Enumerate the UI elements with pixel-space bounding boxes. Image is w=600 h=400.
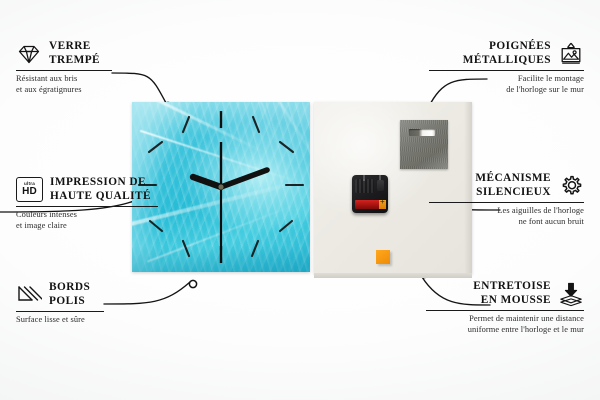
feature-foam-spacer: ENTRETOISE EN MOUSSE Permet de maintenir… — [388, 280, 584, 335]
feature-print-quality: ultra HD IMPRESSION DE HAUTE QUALITÉ Cou… — [16, 176, 212, 231]
foam-spacer-part — [376, 250, 390, 264]
feature-desc-line2: et image claire — [16, 221, 212, 232]
feature-title-line2: HAUTE QUALITÉ — [50, 190, 151, 204]
feature-title-line1: MÉCANISME — [475, 172, 551, 186]
aa-battery-part — [355, 200, 385, 209]
feature-desc-line2: uniforme entre l'horloge et le mur — [388, 325, 584, 336]
feature-title-line1: VERRE — [49, 40, 100, 54]
feature-polished-edges: BORDS POLIS Surface lisse et sûre — [16, 281, 212, 326]
feature-title-line1: BORDS — [49, 281, 90, 295]
ultra-hd-icon-big-label: HD — [22, 187, 37, 197]
feature-title-line2: POLIS — [49, 295, 90, 309]
feature-desc-line2: et aux égratignures — [16, 85, 212, 96]
hanging-frame-icon — [558, 41, 584, 67]
feature-title-line1: IMPRESSION DE — [50, 176, 151, 190]
feature-desc-line1: Facilite le montage — [388, 71, 584, 85]
metallic-hanger-part — [400, 120, 448, 169]
feature-desc-line2: de l'horloge sur le mur — [388, 85, 584, 96]
feature-desc-line2: ne font aucun bruit — [388, 217, 584, 228]
feature-tempered-glass: VERRE TREMPÉ Résistant aux bris et aux é… — [16, 40, 212, 95]
gear-icon — [558, 173, 584, 199]
polished-edges-icon — [16, 282, 42, 308]
feature-desc-line1: Les aiguilles de l'horloge — [388, 203, 584, 217]
feature-desc-line1: Surface lisse et sûre — [16, 312, 212, 326]
ultra-hd-icon: ultra HD — [16, 177, 43, 202]
infographic-canvas: VERRE TREMPÉ Résistant aux bris et aux é… — [0, 0, 600, 400]
quartz-mechanism-part — [352, 175, 388, 213]
feature-title-line1: ENTRETOISE — [473, 280, 551, 294]
feature-title-line2: MÉTALLIQUES — [463, 54, 551, 68]
feature-desc-line1: Couleurs intenses — [16, 207, 212, 221]
feature-desc-line1: Résistant aux bris — [16, 71, 212, 85]
feature-title-line1: POIGNÉES — [463, 40, 551, 54]
feature-silent-mechanism: MÉCANISME SILENCIEUX Les aiguilles de l'… — [388, 172, 584, 227]
diamond-icon — [16, 41, 42, 67]
feature-title-line2: TREMPÉ — [49, 54, 100, 68]
feature-desc-line1: Permet de maintenir une distance — [388, 311, 584, 325]
foam-press-icon — [558, 281, 584, 307]
feature-metal-handles: POIGNÉES MÉTALLIQUES Facilite le montage… — [388, 40, 584, 95]
feature-title-line2: EN MOUSSE — [473, 294, 551, 308]
feature-title-line2: SILENCIEUX — [475, 186, 551, 200]
